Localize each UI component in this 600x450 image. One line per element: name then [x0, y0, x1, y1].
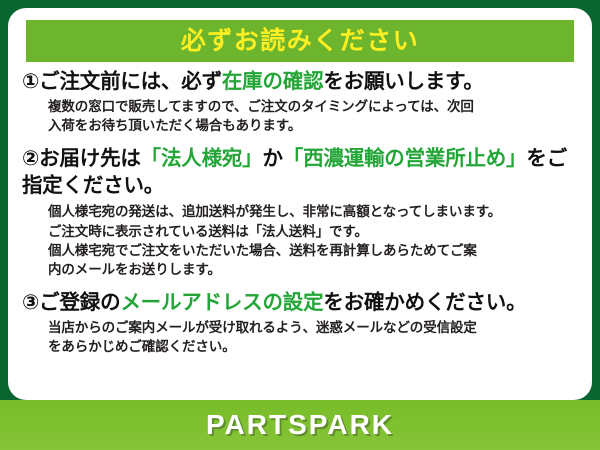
notice-panel: 必ずお読みください ①ご注文前には、必ず在庫の確認をお願いします。 複数の窓口で…: [8, 8, 592, 400]
item-2-body-line-1: 個人様宅宛の発送は、追加送料が発生し、非常に高額となってしまいます。: [48, 202, 582, 221]
item-1-body-line-2: 入荷をお待ち頂いただく場合もあります。: [48, 116, 582, 135]
brand-logo-text: PARTSPARK: [206, 411, 394, 439]
item-2-heading-part-0: お届け先は: [39, 147, 141, 170]
item-3-heading-highlight: メールアドレスの設定: [120, 291, 323, 314]
notice-item-1: ①ご注文前には、必ず在庫の確認をお願いします。 複数の窓口で販売してますので、ご…: [22, 68, 582, 135]
item-2-heading-highlight-2: 「西濃運輸の営業所止め」: [283, 147, 527, 170]
notice-page: 必ずお読みください ①ご注文前には、必ず在庫の確認をお願いします。 複数の窓口で…: [0, 0, 600, 450]
notice-banner: 必ずお読みください: [26, 20, 574, 62]
item-3-body-line-1: 当店からのご案内メールが受け取れるよう、迷惑メールなどの受信設定: [48, 318, 582, 337]
item-1-number: ①: [22, 70, 39, 93]
item-2-body-line-4: 内のメールをお送りします。: [48, 260, 582, 279]
notice-item-3: ③ご登録のメールアドレスの設定をお確かめください。 当店からのご案内メールが受け…: [22, 289, 582, 356]
item-2-body-line-2: ご注文時に表示されている送料は「法人送料」です。: [48, 222, 582, 241]
notice-item-2: ②お届け先は「法人様宛」か「西濃運輸の営業所止め」をご指定ください。 個人様宅宛…: [22, 145, 582, 279]
banner-title: 必ずお読みください: [181, 29, 420, 54]
footer-bar: PARTSPARK: [0, 400, 600, 450]
item-3-heading-part-0: ご登録の: [39, 291, 120, 314]
item-1-heading-part-2: をお願いします。: [323, 70, 483, 93]
item-3-number: ③: [22, 291, 39, 314]
item-2-heading: ②お届け先は「法人様宛」か「西濃運輸の営業所止め」をご指定ください。: [22, 145, 582, 199]
item-1-heading-highlight: 在庫の確認: [222, 70, 324, 93]
item-2-body-line-3: 個人様宅宛でご注文をいただいた場合、送料を再計算しあらためてご案: [48, 241, 582, 260]
item-3-body: 当店からのご案内メールが受け取れるよう、迷惑メールなどの受信設定 をあらかじめご…: [48, 318, 582, 356]
item-1-body-line-1: 複数の窓口で販売してますので、ご注文のタイミングによっては、次回: [48, 97, 582, 116]
item-2-number: ②: [22, 147, 39, 170]
item-1-heading-part-0: ご注文前には、必ず: [39, 70, 222, 93]
notice-content: ①ご注文前には、必ず在庫の確認をお願いします。 複数の窓口で販売してますので、ご…: [8, 66, 592, 362]
item-3-heading-part-2: をお確かめください。: [323, 291, 526, 314]
item-1-body: 複数の窓口で販売してますので、ご注文のタイミングによっては、次回 入荷をお待ち頂…: [48, 97, 582, 135]
item-1-heading: ①ご注文前には、必ず在庫の確認をお願いします。: [22, 68, 582, 95]
item-2-heading-highlight-1: 「法人様宛」: [141, 147, 263, 170]
item-3-body-line-2: をあらかじめご確認ください。: [48, 337, 582, 356]
item-2-heading-part-2: か: [262, 147, 282, 170]
item-3-heading: ③ご登録のメールアドレスの設定をお確かめください。: [22, 289, 582, 316]
item-2-body: 個人様宅宛の発送は、追加送料が発生し、非常に高額となってしまいます。 ご注文時に…: [48, 202, 582, 279]
